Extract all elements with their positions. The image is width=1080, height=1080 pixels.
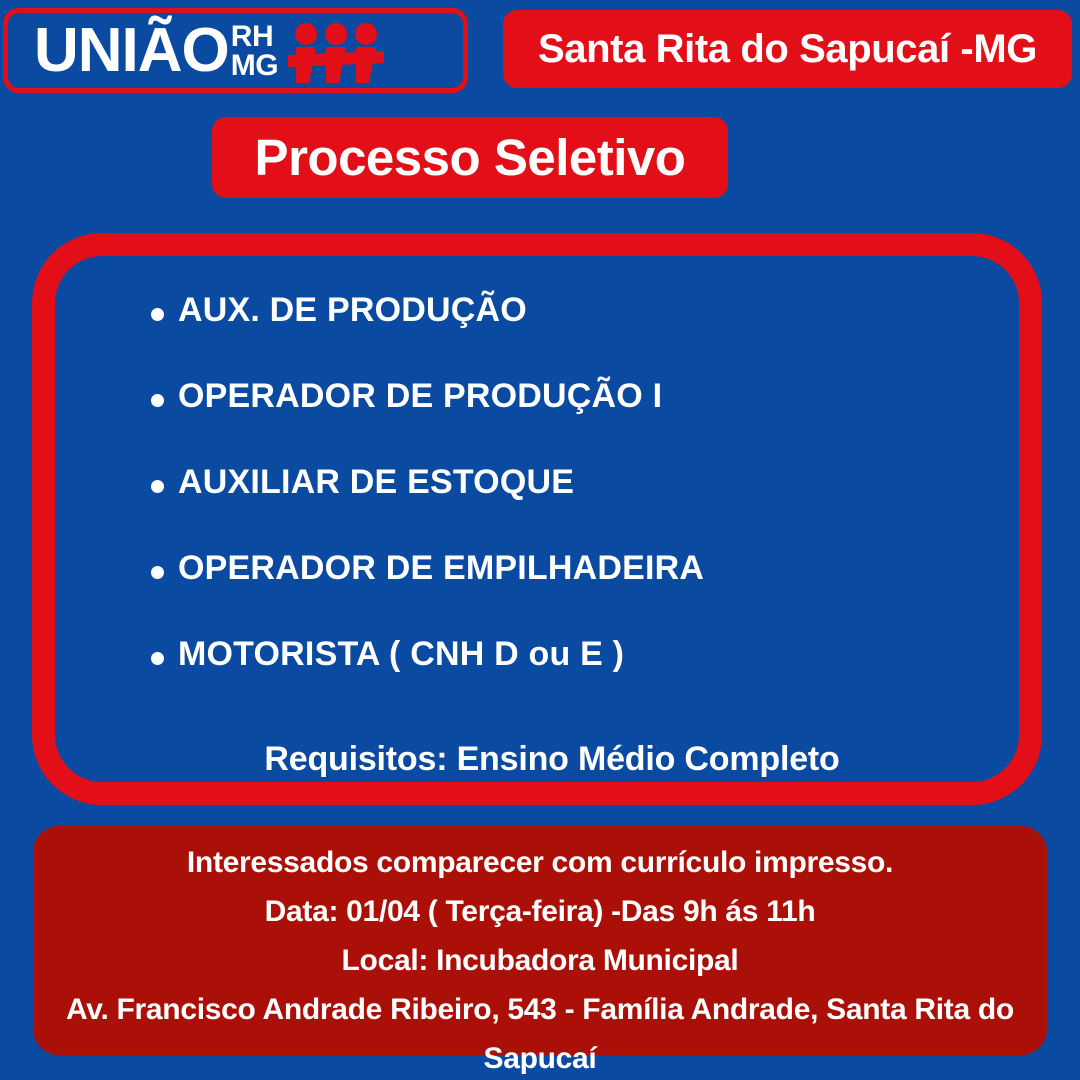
poster-root: UNIÃO RH MG Santa Rita do Sapucaí -MG Pr… xyxy=(0,0,1080,1080)
bullet-icon xyxy=(151,308,164,321)
logo-subtext-line1: RH xyxy=(231,23,278,52)
info-location: Local: Incubadora Municipal xyxy=(342,936,739,985)
three-people-icon xyxy=(288,21,384,83)
jobs-list: AUX. DE PRODUÇÃO OPERADOR DE PRODUÇÃO I … xyxy=(55,256,1019,782)
bullet-icon xyxy=(151,394,164,407)
city-badge: Santa Rita do Sapucaí -MG xyxy=(503,10,1072,88)
logo-wordmark: UNIÃO xyxy=(34,20,229,82)
jobs-card: AUX. DE PRODUÇÃO OPERADOR DE PRODUÇÃO I … xyxy=(32,233,1042,805)
list-item: OPERADOR DE PRODUÇÃO I xyxy=(55,378,1019,464)
city-badge-label: Santa Rita do Sapucaí -MG xyxy=(538,27,1037,72)
bullet-icon xyxy=(151,480,164,493)
list-item: OPERADOR DE EMPILHADEIRA xyxy=(55,550,1019,636)
list-item: AUX. DE PRODUÇÃO xyxy=(55,292,1019,378)
info-address: Av. Francisco Andrade Ribeiro, 543 - Fam… xyxy=(35,985,1045,1080)
list-item: AUXILIAR DE ESTOQUE xyxy=(55,464,1019,550)
page-title: Processo Seletivo xyxy=(255,128,686,187)
list-item: MOTORISTA ( CNH D ou E ) xyxy=(55,636,1019,722)
logo-subtext: RH MG xyxy=(231,23,278,80)
title-banner: Processo Seletivo xyxy=(212,117,728,198)
info-block: Interessados comparecer com currículo im… xyxy=(33,826,1047,1055)
bullet-icon xyxy=(151,652,164,665)
job-title: AUXILIAR DE ESTOQUE xyxy=(178,464,574,501)
logo-subtext-line2: MG xyxy=(231,52,278,81)
company-logo: UNIÃO RH MG xyxy=(3,8,468,93)
requirements-text: Requisitos: Ensino Médio Completo xyxy=(55,740,1019,779)
job-title: OPERADOR DE PRODUÇÃO I xyxy=(178,378,662,415)
job-title: MOTORISTA ( CNH D ou E ) xyxy=(178,636,624,673)
info-instructions: Interessados comparecer com currículo im… xyxy=(187,838,893,887)
job-title: OPERADOR DE EMPILHADEIRA xyxy=(178,550,704,587)
info-date: Data: 01/04 ( Terça-feira) -Das 9h ás 11… xyxy=(265,887,816,936)
job-title: AUX. DE PRODUÇÃO xyxy=(178,292,527,329)
bullet-icon xyxy=(151,566,164,579)
